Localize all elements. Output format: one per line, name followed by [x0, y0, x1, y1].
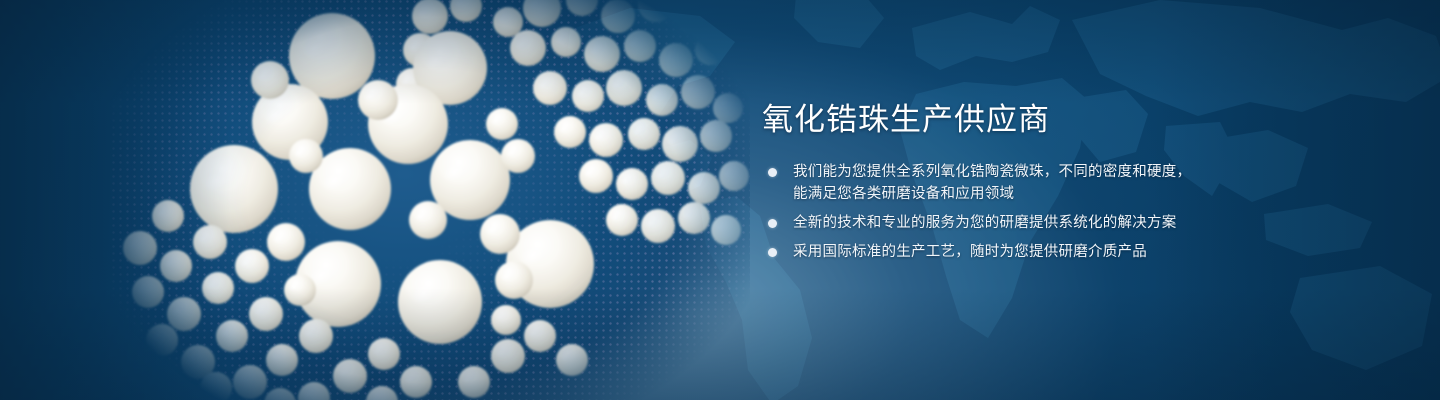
bullet-line: 能满足您各类研磨设备和应用领域: [793, 183, 1322, 205]
banner-headline: 氧化锆珠生产供应商: [762, 104, 1322, 135]
bullet-dot-icon: [768, 168, 777, 177]
banner-copy: 氧化锆珠生产供应商 我们能为您提供全系列氧化锆陶瓷微珠，不同的密度和硬度， 能满…: [762, 104, 1322, 263]
bullet-item: 我们能为您提供全系列氧化锆陶瓷微珠，不同的密度和硬度， 能满足您各类研磨设备和应…: [762, 161, 1322, 205]
hero-banner: 氧化锆珠生产供应商 我们能为您提供全系列氧化锆陶瓷微珠，不同的密度和硬度， 能满…: [0, 0, 1440, 400]
bullet-dot-icon: [768, 248, 777, 257]
bullet-line: 我们能为您提供全系列氧化锆陶瓷微珠，不同的密度和硬度，: [793, 161, 1322, 183]
bullet-dot-icon: [768, 219, 777, 228]
bead-cluster-illustration: [110, 0, 750, 400]
banner-bullet-list: 我们能为您提供全系列氧化锆陶瓷微珠，不同的密度和硬度， 能满足您各类研磨设备和应…: [762, 161, 1322, 263]
bullet-item: 采用国际标准的生产工艺，随时为您提供研磨介质产品: [762, 241, 1322, 263]
zirconia-bead-cluster-photo: [110, 0, 750, 400]
bullet-line: 全新的技术和专业的服务为您的研磨提供系统化的解决方案: [793, 212, 1322, 234]
bullet-item: 全新的技术和专业的服务为您的研磨提供系统化的解决方案: [762, 212, 1322, 234]
bullet-line: 采用国际标准的生产工艺，随时为您提供研磨介质产品: [793, 241, 1322, 263]
